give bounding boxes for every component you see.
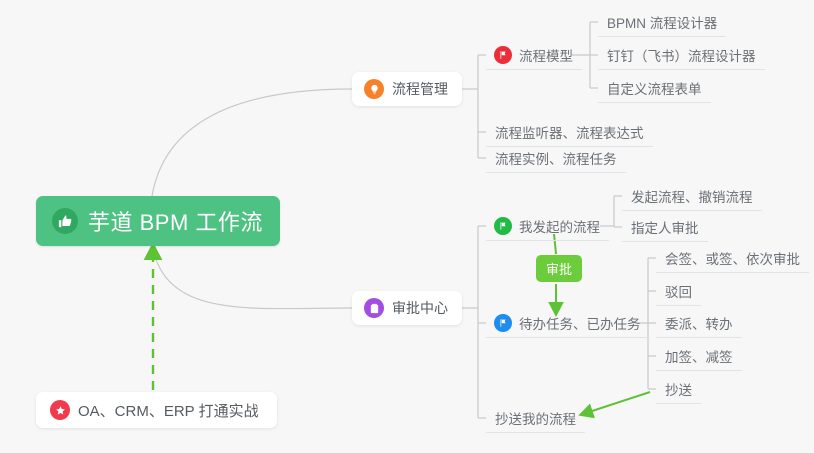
branch-label-process-management: 流程管理 (392, 79, 448, 99)
leaf-label-start-revoke-process: 发起流程、撤销流程 (631, 186, 753, 206)
leaf-custom-form[interactable]: 自定义流程表单 (598, 74, 711, 103)
lightbulb-icon (364, 79, 384, 99)
flag-icon (494, 46, 512, 64)
flag-icon (494, 217, 512, 235)
leaf-label-cc-to-me: 抄送我的流程 (495, 408, 576, 428)
flag-icon (494, 314, 512, 332)
thumbs-up-icon (52, 208, 78, 234)
leaf-label-reject: 驳回 (665, 281, 692, 301)
leaf-assignee-approval[interactable]: 指定人审批 (622, 213, 708, 242)
leaf-label-custom-form: 自定义流程表单 (607, 78, 702, 98)
root-label: 芋道 BPM 工作流 (88, 205, 263, 237)
leaf-cc-to-me[interactable]: 抄送我的流程 (486, 404, 585, 433)
leaf-label-process-listener: 流程监听器、流程表达式 (495, 122, 644, 142)
leaf-cc[interactable]: 抄送 (656, 375, 701, 404)
branch-node-process-management[interactable]: 流程管理 (352, 72, 462, 106)
approval-tag-label: 审批 (546, 259, 572, 278)
star-icon (50, 400, 70, 420)
arrow-cc-to-cc-my-process (583, 392, 650, 414)
leaf-reject[interactable]: 驳回 (656, 277, 701, 306)
branch-node-approval-center[interactable]: 审批中心 (352, 291, 462, 325)
leaf-label-process-model: 流程模型 (519, 45, 573, 65)
callout-node-integration[interactable]: OA、CRM、ERP 打通实战 (36, 392, 277, 428)
leaf-dingtalk-designer[interactable]: 钉钉（飞书）流程设计器 (598, 41, 765, 70)
leaf-delegate-transfer[interactable]: 委派、转办 (656, 309, 742, 338)
mindmap-canvas: 芋道 BPM 工作流 流程管理 审批中心 流程模型 流程监听器、流程表达式 (0, 0, 814, 453)
leaf-process-model[interactable]: 流程模型 (486, 41, 582, 70)
leaf-bpmn-designer[interactable]: BPMN 流程设计器 (598, 8, 726, 37)
leaf-add-remove-sign[interactable]: 加签、减签 (656, 342, 742, 371)
leaf-my-started[interactable]: 我发起的流程 (486, 212, 609, 241)
leaf-process-instance[interactable]: 流程实例、流程任务 (486, 144, 626, 173)
leaf-label-assignee-approval: 指定人审批 (631, 217, 699, 237)
leaf-label-dingtalk-designer: 钉钉（飞书）流程设计器 (607, 45, 756, 65)
leaf-label-process-instance: 流程实例、流程任务 (495, 148, 617, 168)
root-node[interactable]: 芋道 BPM 工作流 (36, 196, 280, 246)
branch-label-approval-center: 审批中心 (392, 298, 448, 318)
leaf-label-countersign: 会签、或签、依次审批 (665, 248, 800, 268)
approval-tag[interactable]: 审批 (536, 255, 582, 282)
leaf-label-cc: 抄送 (665, 379, 692, 399)
leaf-label-my-started: 我发起的流程 (519, 216, 600, 236)
leaf-countersign[interactable]: 会签、或签、依次审批 (656, 244, 809, 273)
leaf-label-todo-done-tasks: 待办任务、已办任务 (519, 313, 641, 333)
leaf-todo-done-tasks[interactable]: 待办任务、已办任务 (486, 309, 650, 338)
callout-label-integration: OA、CRM、ERP 打通实战 (78, 400, 259, 421)
leaf-label-add-remove-sign: 加签、减签 (665, 346, 733, 366)
leaf-process-listener[interactable]: 流程监听器、流程表达式 (486, 118, 653, 147)
leaf-start-revoke-process[interactable]: 发起流程、撤销流程 (622, 182, 762, 211)
leaf-label-bpmn-designer: BPMN 流程设计器 (607, 12, 717, 32)
clipboard-icon (364, 298, 384, 318)
leaf-label-delegate-transfer: 委派、转办 (665, 313, 733, 333)
